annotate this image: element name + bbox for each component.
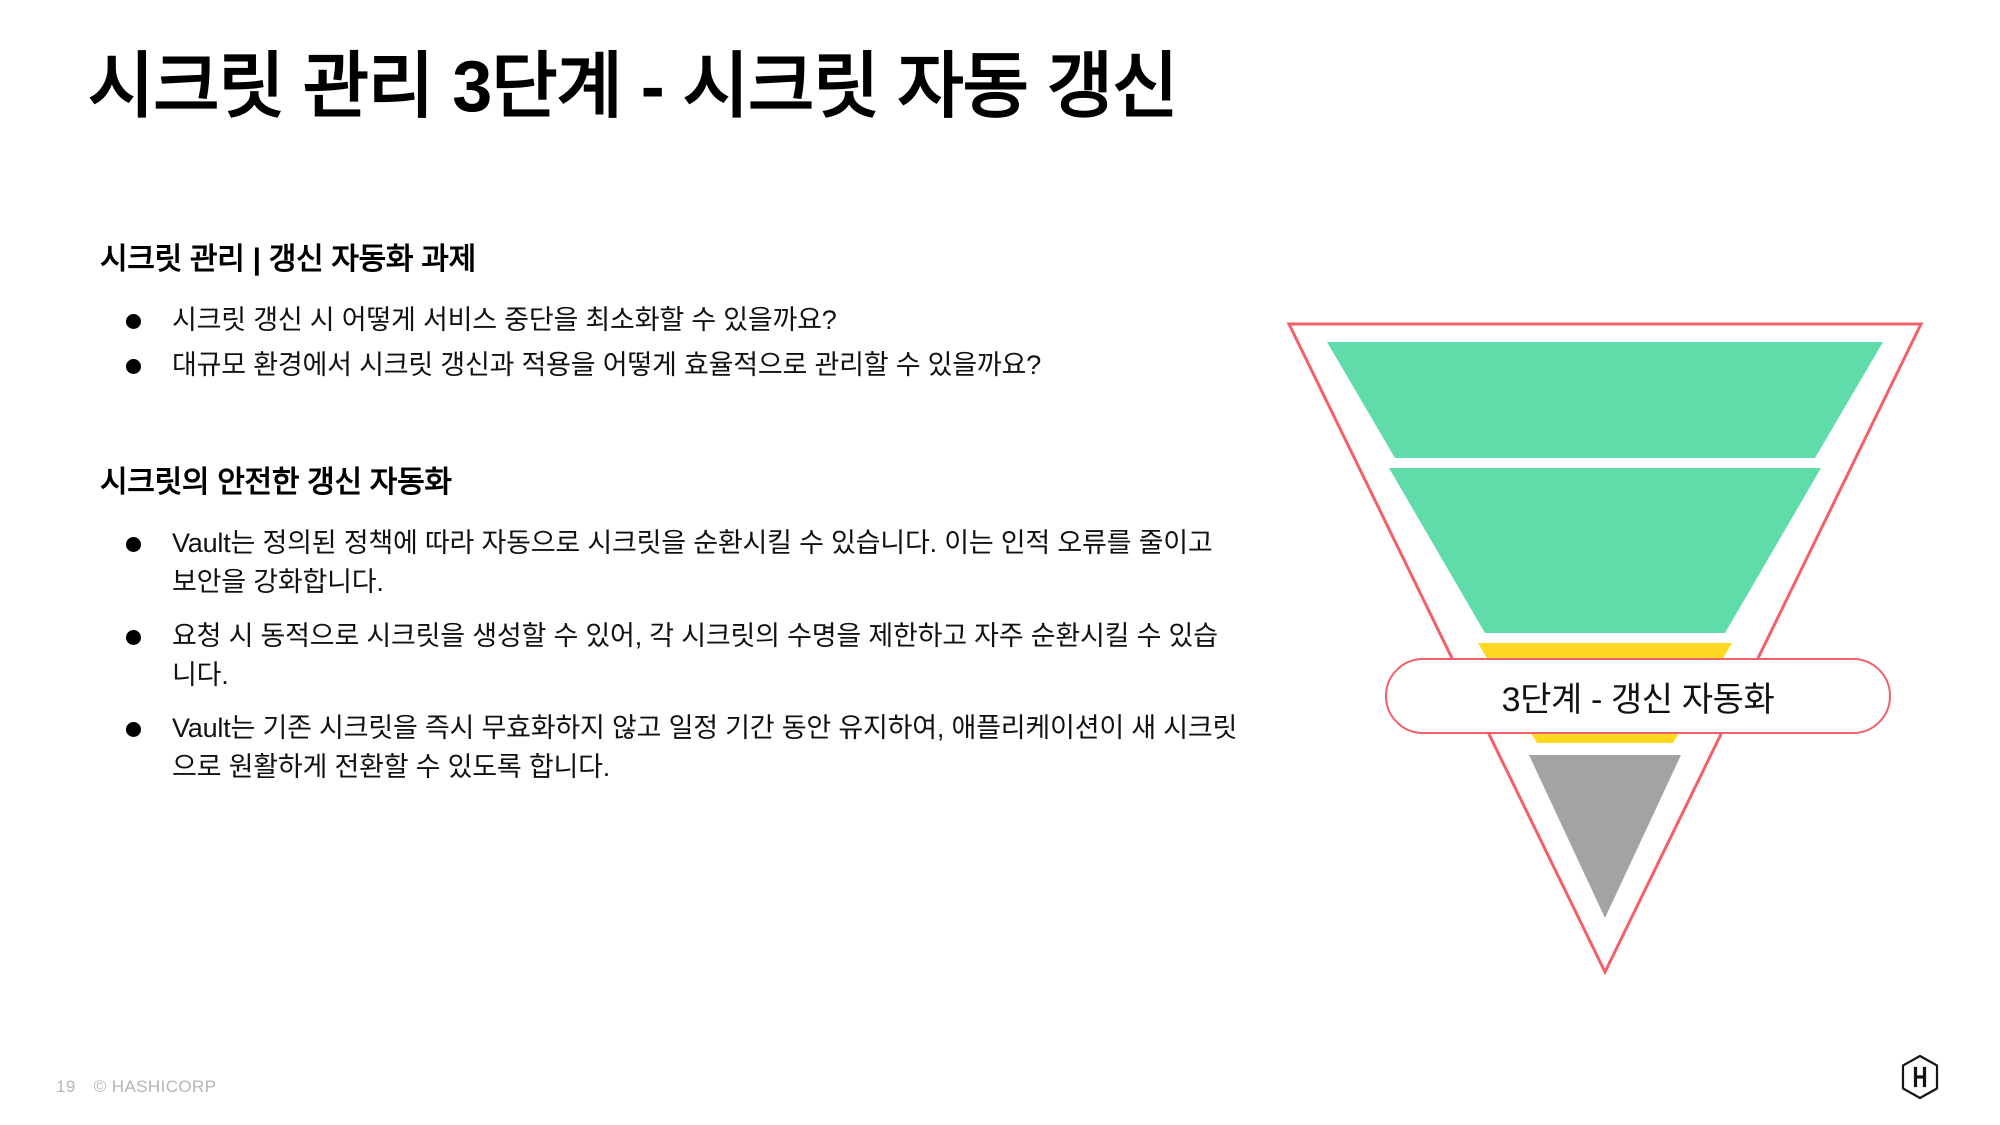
list-item: 대규모 환경에서 시크릿 갱신과 적용을 어떻게 효율적으로 관리할 수 있을까… <box>100 346 1240 385</box>
section-heading-2: 시크릿의 안전한 갱신 자동화 <box>100 463 1240 502</box>
bullet-dot-icon <box>126 630 141 645</box>
bullet-list-1: 시크릿 갱신 시 어떻게 서비스 중단을 최소화할 수 있을까요? 대규모 환경… <box>100 301 1240 385</box>
content-column: 시크릿 관리 | 갱신 자동화 과제 시크릿 갱신 시 어떻게 서비스 중단을 … <box>100 240 1240 801</box>
list-item: 시크릿 갱신 시 어떻게 서비스 중단을 최소화할 수 있을까요? <box>100 301 1240 340</box>
list-item: 요청 시 동적으로 시크릿을 생성할 수 있어, 각 시크릿의 수명을 제한하고… <box>100 617 1240 695</box>
funnel-diagram <box>1285 318 1925 978</box>
bullet-text: 시크릿 갱신 시 어떻게 서비스 중단을 최소화할 수 있을까요? <box>172 305 837 335</box>
section-heading-1: 시크릿 관리 | 갱신 자동화 과제 <box>100 240 1240 279</box>
funnel-stage-label: 3단계 - 갱신 자동화 <box>1385 658 1891 734</box>
bullet-list-2: Vault는 정의된 정책에 따라 자동으로 시크릿을 순환시킬 수 있습니다.… <box>100 524 1240 787</box>
bullet-text: Vault는 정의된 정책에 따라 자동으로 시크릿을 순환시킬 수 있습니다.… <box>172 528 1213 597</box>
section-automation: 시크릿의 안전한 갱신 자동화 Vault는 정의된 정책에 따라 자동으로 시… <box>100 463 1240 787</box>
funnel-svg <box>1285 318 1925 978</box>
footer: 19 © HASHICORP <box>56 1077 216 1097</box>
page-number: 19 <box>56 1077 76 1097</box>
bullet-dot-icon <box>126 359 141 374</box>
hashicorp-logo-icon <box>1900 1055 1940 1099</box>
copyright-text: © HASHICORP <box>94 1077 217 1097</box>
bullet-dot-icon <box>126 537 141 552</box>
list-item: Vault는 정의된 정책에 따라 자동으로 시크릿을 순환시킬 수 있습니다.… <box>100 524 1240 602</box>
funnel-segment-4 <box>1529 755 1681 918</box>
funnel-segment-1 <box>1327 342 1883 458</box>
bullet-text: Vault는 기존 시크릿을 즉시 무효화하지 않고 일정 기간 동안 유지하여… <box>172 713 1237 782</box>
bullet-dot-icon <box>126 722 141 737</box>
bullet-dot-icon <box>126 314 141 329</box>
list-item: Vault는 기존 시크릿을 즉시 무효화하지 않고 일정 기간 동안 유지하여… <box>100 709 1240 787</box>
slide-root: 시크릿 관리 3단계 - 시크릿 자동 갱신 시크릿 관리 | 갱신 자동화 과… <box>0 0 2000 1125</box>
page-title: 시크릿 관리 3단계 - 시크릿 자동 갱신 <box>88 48 1177 127</box>
funnel-segment-2 <box>1389 468 1821 633</box>
section-challenges: 시크릿 관리 | 갱신 자동화 과제 시크릿 갱신 시 어떻게 서비스 중단을 … <box>100 240 1240 385</box>
bullet-text: 대규모 환경에서 시크릿 갱신과 적용을 어떻게 효율적으로 관리할 수 있을까… <box>172 350 1041 380</box>
bullet-text: 요청 시 동적으로 시크릿을 생성할 수 있어, 각 시크릿의 수명을 제한하고… <box>172 621 1218 690</box>
